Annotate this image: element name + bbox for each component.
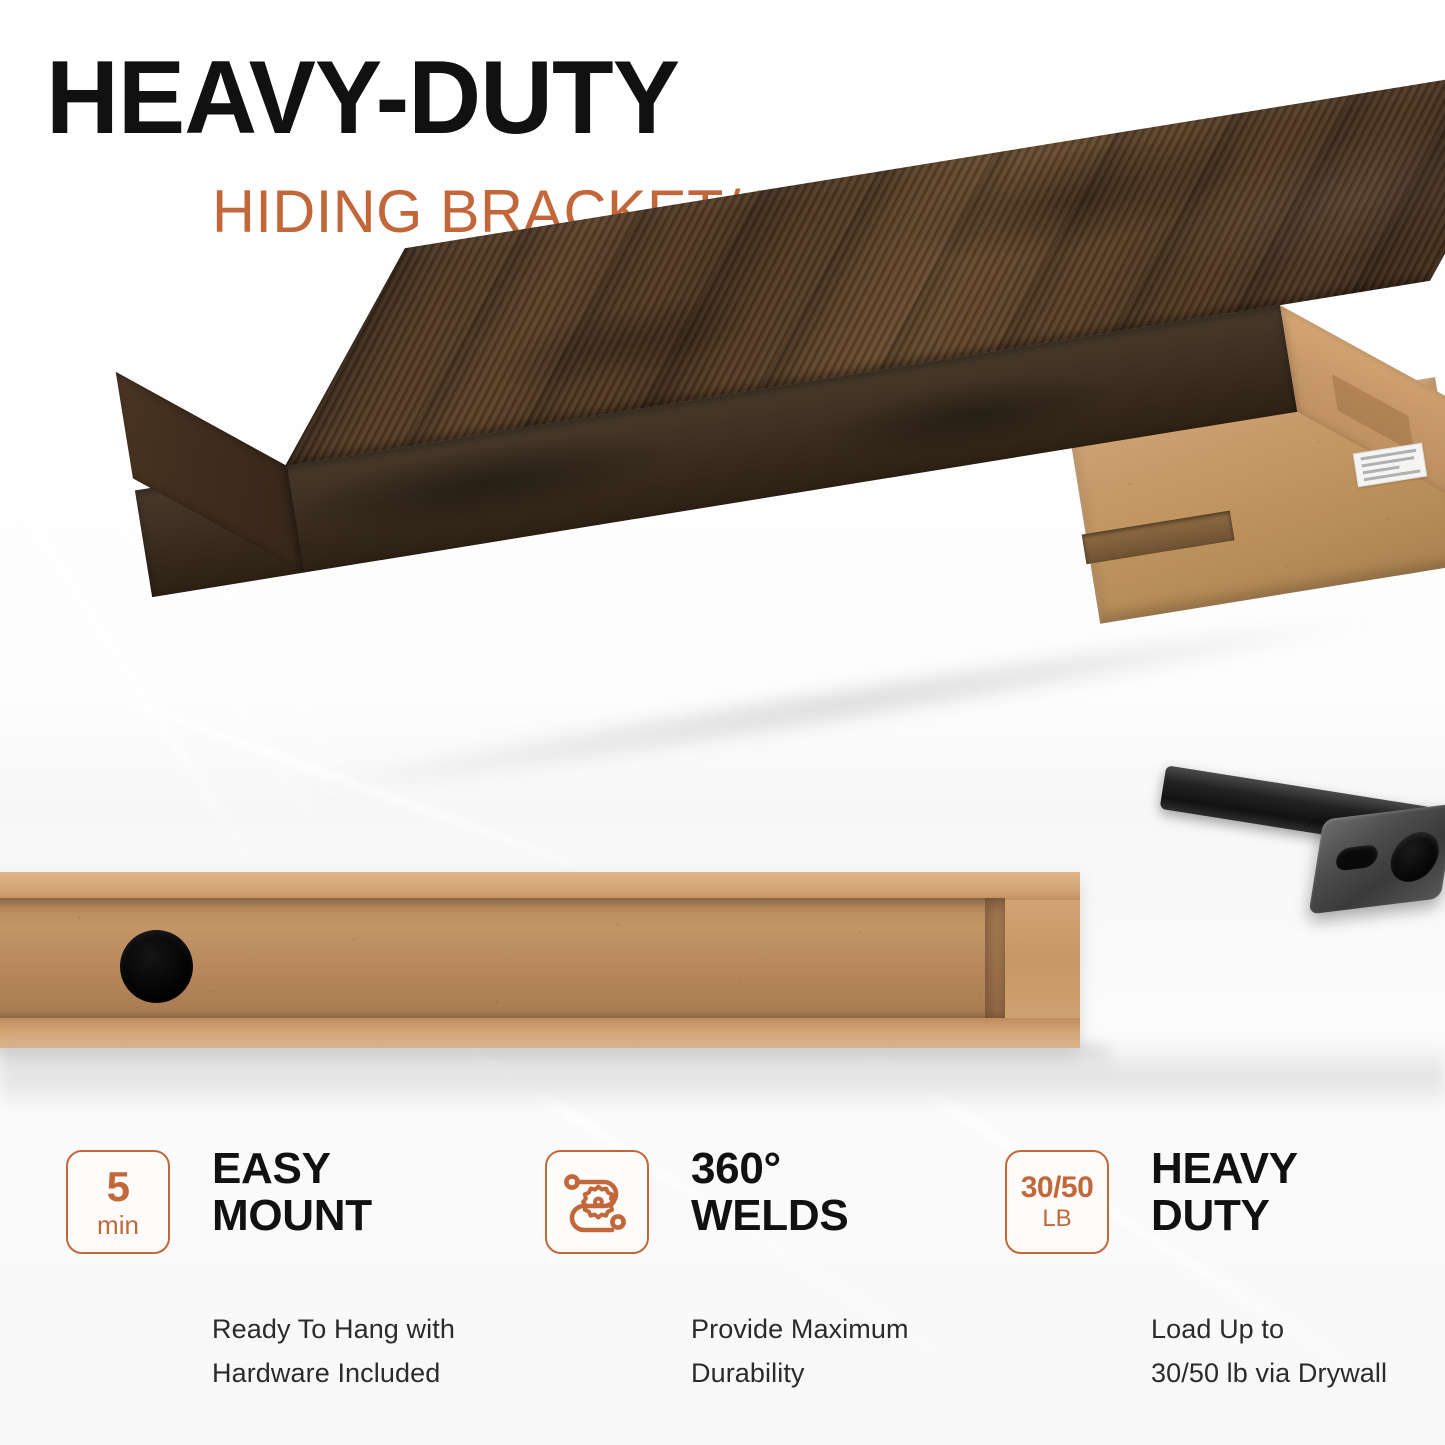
- feature-title: 360° WELDS: [691, 1146, 848, 1239]
- feature-easy-mount: 5 min EASY MOUNT Ready To Hang with Hard…: [66, 1140, 526, 1262]
- feature-description: Provide Maximum Durability: [691, 1308, 909, 1395]
- icon-primary-text: 5: [107, 1166, 130, 1208]
- five-minute-icon: 5 min: [66, 1150, 170, 1254]
- load-capacity-icon: 30/50 LB: [1005, 1150, 1109, 1254]
- bracket-slot-hole: [1335, 843, 1380, 871]
- bracket-mounting-plate: [1308, 803, 1445, 914]
- page-title: HEAVY-DUTY: [46, 46, 679, 150]
- feature-title-line1: HEAVY: [1151, 1146, 1298, 1193]
- hero-product-image: [0, 255, 1445, 795]
- feature-title-line2: WELDS: [691, 1193, 848, 1240]
- shelf-back-channel-image: [0, 872, 1080, 1048]
- feature-title-line2: DUTY: [1151, 1193, 1298, 1240]
- icon-secondary-text: min: [97, 1212, 139, 1238]
- feature-description: Load Up to 30/50 lb via Drywall: [1151, 1308, 1445, 1395]
- icon-primary-text: 30/50: [1021, 1173, 1094, 1203]
- feature-description: Ready To Hang with Hardware Included: [212, 1308, 455, 1395]
- channel-drop-shadow: [0, 1044, 1110, 1070]
- feature-title-line1: EASY: [212, 1146, 372, 1193]
- feature-title-line1: 360°: [691, 1146, 848, 1193]
- bracket-screw-hole: [1387, 829, 1442, 884]
- icon-secondary-text: LB: [1042, 1207, 1071, 1231]
- feature-title: EASY MOUNT: [212, 1146, 372, 1239]
- feature-title: HEAVY DUTY: [1151, 1146, 1298, 1239]
- weld-path-gear-icon: [545, 1150, 649, 1254]
- feature-360-welds: 360° WELDS Provide Maximum Durability: [545, 1140, 985, 1262]
- feature-title-line2: MOUNT: [212, 1193, 372, 1240]
- feature-heavy-duty: 30/50 LB HEAVY DUTY Load Up to 30/50 lb …: [1005, 1140, 1445, 1262]
- weld-path-gear-glyph: [562, 1171, 632, 1233]
- product-infographic: HEAVY-DUTY HIDING BRACKET/ACCESSORY: [0, 0, 1445, 1445]
- feature-row: 5 min EASY MOUNT Ready To Hang with Hard…: [0, 1140, 1445, 1430]
